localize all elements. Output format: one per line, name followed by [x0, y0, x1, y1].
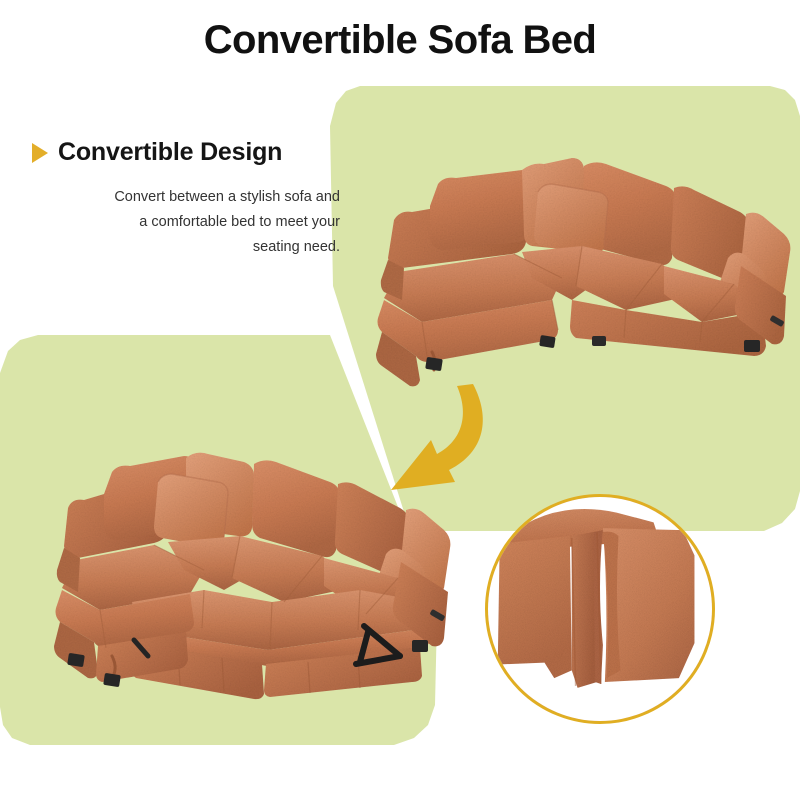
fabric-closeup-circle: [485, 494, 715, 724]
feature-heading-row: Convertible Design: [24, 138, 344, 167]
triangle-right-icon: [32, 143, 48, 163]
feature-body-line-2: a comfortable bed to meet your: [24, 210, 340, 235]
feature-heading: Convertible Design: [58, 138, 282, 167]
page-title: Convertible Sofa Bed: [0, 18, 800, 62]
infographic-canvas: Convertible Sofa Bed Convertible Design …: [0, 0, 800, 800]
product-image-sofa-mode: [326, 150, 800, 390]
feature-body-text: Convert between a stylish sofa and a com…: [24, 185, 344, 260]
feature-body-line-3: seating need.: [24, 235, 340, 260]
curved-arrow-down-left-icon: [345, 378, 495, 508]
feature-body-line-1: Convert between a stylish sofa and: [24, 185, 340, 210]
feature-block: Convertible Design Convert between a sty…: [24, 138, 344, 260]
